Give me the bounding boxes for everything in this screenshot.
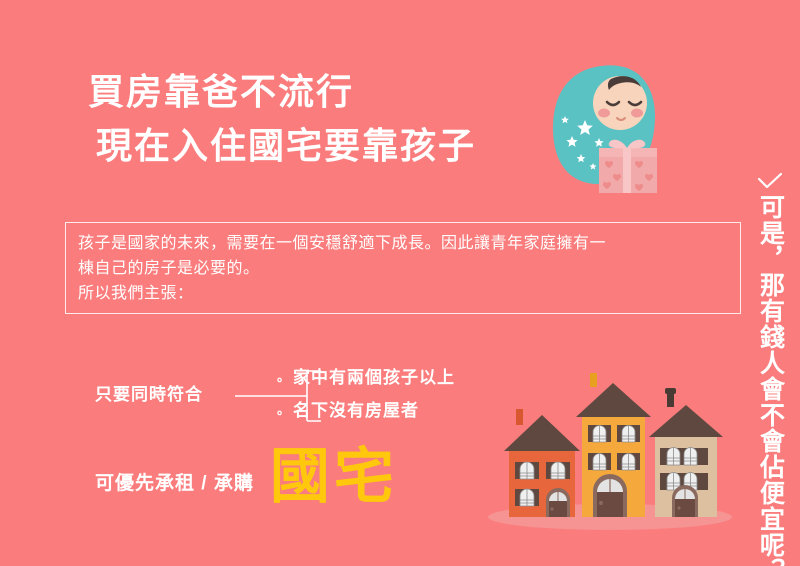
priority-row: 可優先承租 / 承購 國宅 xyxy=(95,455,398,507)
window xyxy=(515,489,539,506)
baby-svg xyxy=(541,58,671,193)
check-icon xyxy=(757,172,783,190)
side-question-text: 可是，那有錢人會不會佔便宜呢？ xyxy=(757,194,784,566)
baby-illustration xyxy=(541,58,671,193)
window xyxy=(588,425,611,442)
criteria-label: 只要同時符合 xyxy=(95,380,203,405)
baby-cheek-right xyxy=(631,109,643,118)
poster-canvas: 買房靠爸不流行 現在入住國宅要靠孩子 xyxy=(0,0,800,566)
houses-svg xyxy=(480,365,745,550)
page-title: 買房靠爸不流行 現在入住國宅要靠孩子 xyxy=(88,70,476,168)
statement-line-3: 所以我們主張： xyxy=(78,281,728,306)
baby-cheek-left xyxy=(598,109,610,118)
title-line-1: 買房靠爸不流行 xyxy=(88,70,476,114)
priority-label: 可優先承租 / 承購 xyxy=(95,468,254,495)
door xyxy=(672,485,698,517)
window xyxy=(660,448,708,466)
window xyxy=(515,462,539,479)
houses-illustration xyxy=(480,365,745,550)
statement-box: 孩子是國家的未來，需要在一個安穩舒適下成長。因此讓青年家庭擁有一 棟自己的房子是… xyxy=(65,222,741,314)
door xyxy=(593,474,627,517)
bullet-dot-icon: 。 xyxy=(277,402,291,417)
criteria-section: 只要同時符合 。家中有兩個孩子以上 。名下沒有房屋者 xyxy=(95,363,495,428)
statement-line-2: 棟自己的房子是必要的。 xyxy=(78,256,728,281)
house-right xyxy=(649,388,723,517)
door xyxy=(546,488,570,517)
criteria-item-2-label: 名下沒有房屋者 xyxy=(293,401,419,420)
house-middle xyxy=(576,373,651,517)
priority-keyword: 國宅 xyxy=(270,447,398,507)
window xyxy=(617,453,640,470)
statement-line-1: 孩子是國家的未來，需要在一個安穩舒適下成長。因此讓青年家庭擁有一 xyxy=(78,231,728,256)
house-left xyxy=(504,409,580,517)
title-line-2: 現在入住國宅要靠孩子 xyxy=(96,124,476,168)
window xyxy=(546,462,570,479)
window xyxy=(588,453,611,470)
criteria-item-1-label: 家中有兩個孩子以上 xyxy=(293,368,455,387)
side-question: 可是，那有錢人會不會佔便宜呢？ xyxy=(748,172,792,566)
window xyxy=(617,425,640,442)
bullet-dot-icon: 。 xyxy=(277,369,291,384)
